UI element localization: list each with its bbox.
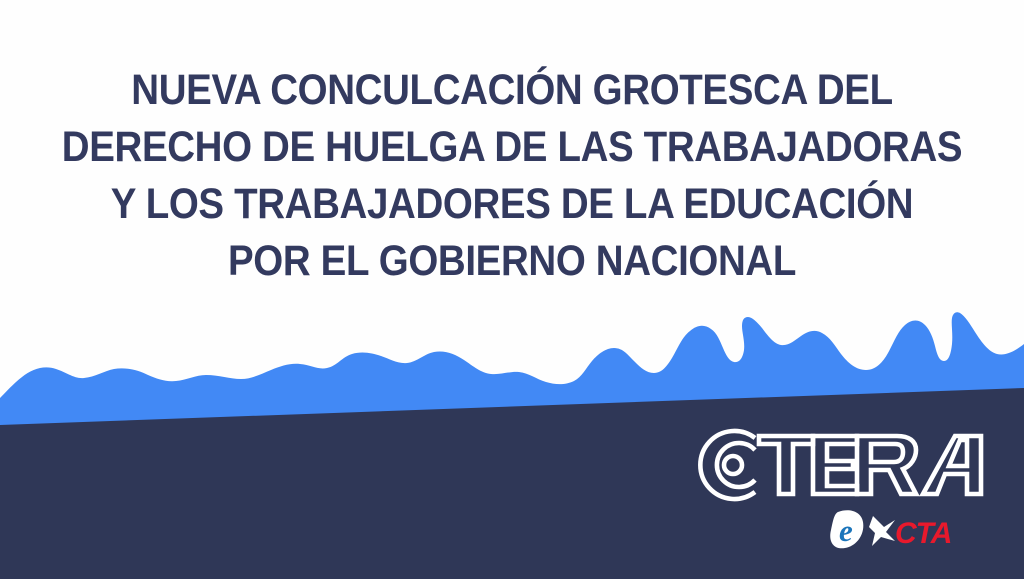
ctera-letter-t xyxy=(759,436,813,494)
ctera-letter-e xyxy=(813,436,857,494)
ctera-logo: e CTA xyxy=(697,424,987,560)
page-title: NUEVA CONCULCACIÓN GROTESCA DEL DERECHO … xyxy=(0,62,1024,290)
cta-monogram-e: e xyxy=(839,513,853,548)
ctera-wordmark xyxy=(697,424,987,506)
poster-canvas: NUEVA CONCULCACIÓN GROTESCA DEL DERECHO … xyxy=(0,0,1024,579)
cta-affiliate-logo: e CTA xyxy=(829,508,964,552)
headline-line-3: Y LOS TRABAJADORES DE LA EDUCACIÓN xyxy=(54,176,970,233)
ctera-letter-r xyxy=(857,436,916,494)
ctera-concentric-c-outer xyxy=(700,431,755,499)
cta-bird-icon xyxy=(869,516,895,546)
ctera-concentric-c-inner xyxy=(724,456,742,474)
ctera-letter-a xyxy=(923,436,981,494)
headline-line-2: DERECHO DE HUELGA DE LAS TRABAJADORAS xyxy=(54,119,970,176)
cta-wordmark: CTA xyxy=(895,517,951,550)
headline-line-1: NUEVA CONCULCACIÓN GROTESCA DEL xyxy=(54,62,970,119)
headline-line-4: POR EL GOBIERNO NACIONAL xyxy=(54,233,970,290)
